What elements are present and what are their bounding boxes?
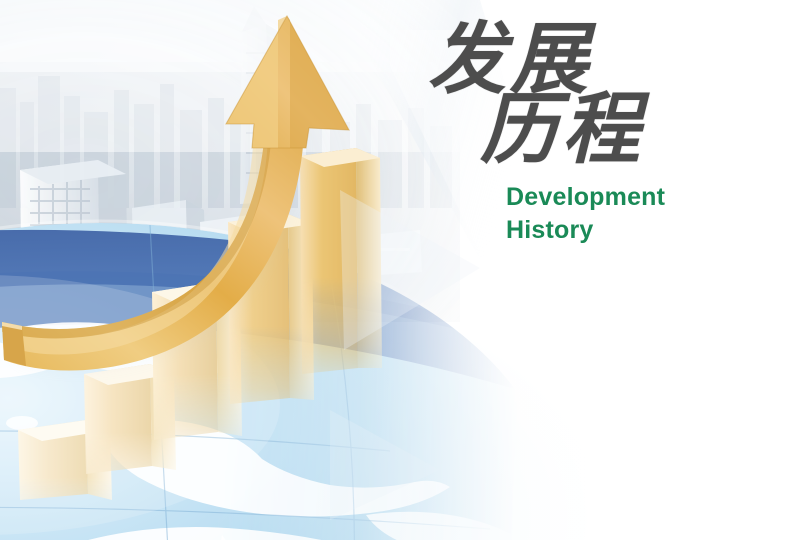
- development-history-banner: 发展历程 发展 历程 Development History: [0, 0, 800, 540]
- page-title-english-line-2: History: [506, 214, 758, 247]
- page-title-english: Development History: [506, 181, 758, 247]
- page-title-cjk: 发展历程 发展 历程: [428, 22, 758, 167]
- page-title-english-line-1: Development: [506, 181, 758, 214]
- page-title-cjk-line-2: 历程: [480, 92, 758, 168]
- title-block: 发展历程 发展 历程 Development History: [428, 22, 758, 247]
